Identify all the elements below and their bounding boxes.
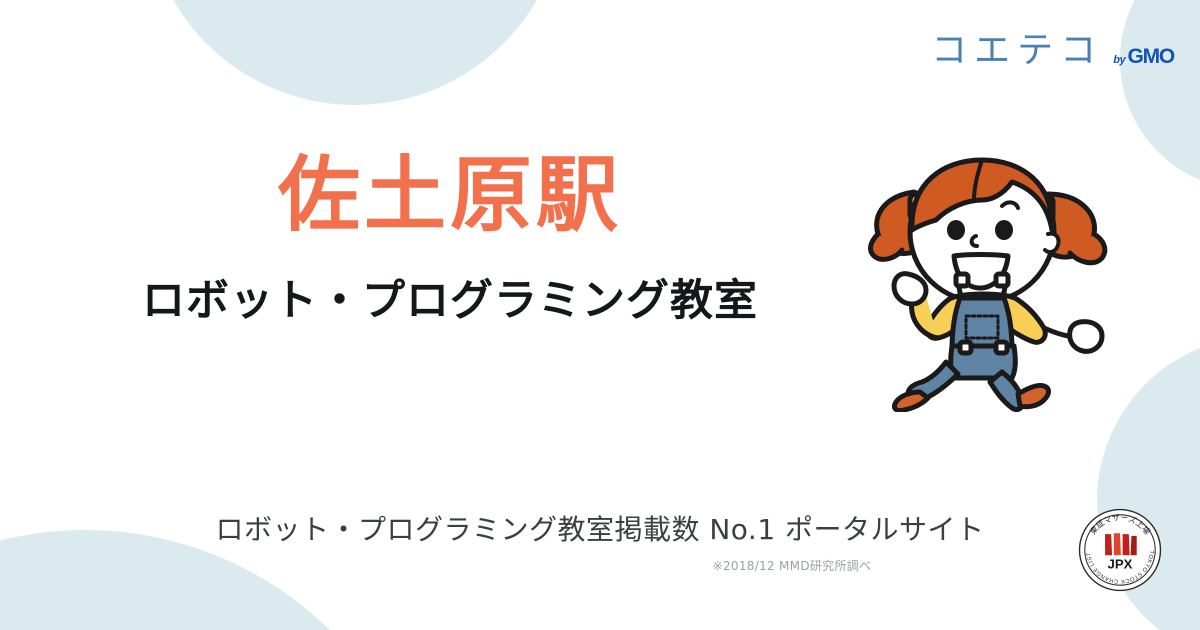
- brand-logo-by-gmo: by GMO: [1113, 46, 1174, 69]
- jpx-center-label: JPX: [1108, 556, 1133, 571]
- tagline-block: ロボット・プログラミング教室掲載数 No.1 ポータルサイト ※2018/12 …: [0, 512, 1200, 574]
- running-girl-icon: [852, 122, 1152, 412]
- brand-logo-by-label: by: [1113, 54, 1125, 66]
- brand-logo-text: コエテコ: [931, 33, 1103, 69]
- page-title: 佐土原駅: [0, 150, 900, 242]
- headline-block: 佐土原駅 ロボット・プログラミング教室: [0, 150, 900, 327]
- tagline-text: ロボット・プログラミング教室掲載数 No.1 ポータルサイト: [0, 512, 1200, 548]
- brand-logo-gmo-label: GMO: [1127, 46, 1174, 67]
- share-card-canvas: コエテコ by GMO 佐土原駅 ロボット・プログラミング教室: [0, 0, 1200, 630]
- jpx-listed-seal-icon: 東証マザーズ上場 TOKYO STOCK EXCHANGE LISTED JPX: [1076, 506, 1164, 594]
- tagline-note: ※2018/12 MMD研究所調べ: [0, 557, 1200, 574]
- decorative-blob-top-left: [145, 0, 565, 105]
- page-subtitle: ロボット・プログラミング教室: [0, 276, 900, 328]
- brand-logo[interactable]: コエテコ by GMO: [931, 33, 1174, 69]
